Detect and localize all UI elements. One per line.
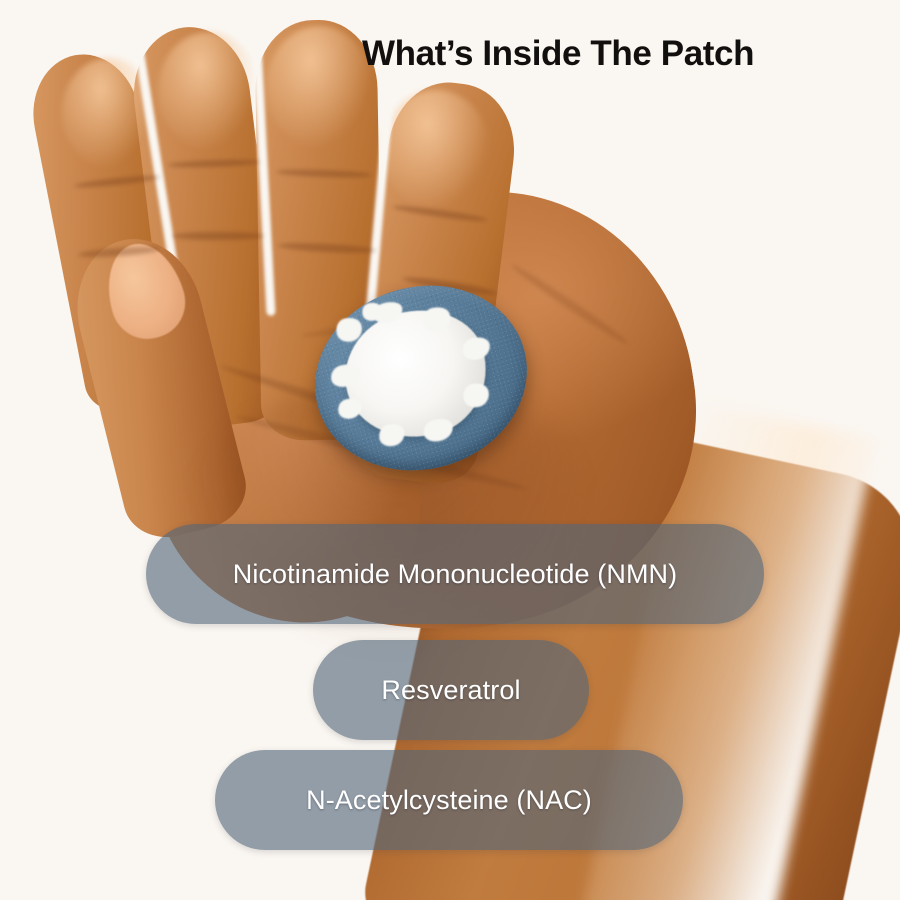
fingertip-highlight-ring <box>158 32 258 150</box>
ingredient-pill-resveratrol: Resveratrol <box>313 640 589 740</box>
ingredient-label: N-Acetylcysteine (NAC) <box>306 785 592 816</box>
finger-crease <box>172 232 264 240</box>
ingredient-label: Nicotinamide Mononucleotide (NMN) <box>233 559 677 590</box>
fingertip-highlight-middle <box>266 26 372 148</box>
ingredient-label: Resveratrol <box>381 675 520 706</box>
ingredient-pill-nac: N-Acetylcysteine (NAC) <box>215 750 683 850</box>
ingredient-pill-nmn: Nicotinamide Mononucleotide (NMN) <box>146 524 764 624</box>
product-infographic: What’s Inside The Patch Nicotinamide Mon… <box>0 0 900 900</box>
fingertip-highlight-index <box>382 90 490 210</box>
page-title: What’s Inside The Patch <box>362 34 872 74</box>
